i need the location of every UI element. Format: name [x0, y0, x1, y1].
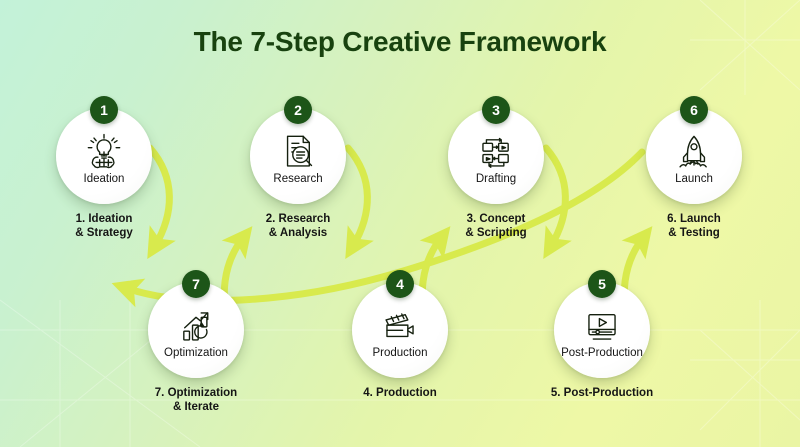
- step-badge-3: 3: [482, 96, 510, 124]
- step-caption-7-line2: & Iterate: [116, 400, 276, 414]
- step-badge-7: 7: [182, 270, 210, 298]
- rocket-icon: [673, 132, 715, 172]
- step-caption-1-line2: & Strategy: [24, 226, 184, 240]
- step-node-1[interactable]: 1 Ideation: [56, 108, 152, 204]
- step-caption-3: 3. Concept & Scripting: [416, 212, 576, 240]
- step-caption-2: 2. Research & Analysis: [218, 212, 378, 240]
- step-node-3[interactable]: 3 Drafting: [448, 108, 544, 204]
- growth-chart-icon: [175, 306, 217, 346]
- step-label-5: Post-Production: [561, 347, 643, 360]
- step-node-6[interactable]: 6 Launch: [646, 108, 742, 204]
- step-badge-4: 4: [386, 270, 414, 298]
- step-caption-3-line1: 3. Concept: [416, 212, 576, 226]
- step-caption-7-line1: 7. Optimization: [116, 386, 276, 400]
- step-caption-6-line1: 6. Launch: [614, 212, 774, 226]
- video-player-icon: [581, 306, 623, 346]
- step-badge-5: 5: [588, 270, 616, 298]
- step-caption-2-line2: & Analysis: [218, 226, 378, 240]
- step-caption-5-line1: 5. Post-Production: [522, 386, 682, 400]
- step-label-6: Launch: [675, 173, 713, 186]
- storyboard-flow-icon: [475, 132, 517, 172]
- step-node-2[interactable]: 2 Research: [250, 108, 346, 204]
- step-caption-5: 5. Post-Production: [522, 386, 682, 400]
- step-caption-4-line1: 4. Production: [320, 386, 480, 400]
- step-caption-3-line2: & Scripting: [416, 226, 576, 240]
- clapperboard-camera-icon: [379, 306, 421, 346]
- step-node-4[interactable]: 4 Production: [352, 282, 448, 378]
- step-node-7[interactable]: 7 Optimization: [148, 282, 244, 378]
- step-caption-2-line1: 2. Research: [218, 212, 378, 226]
- step-label-2: Research: [273, 173, 322, 186]
- step-caption-1: 1. Ideation & Strategy: [24, 212, 184, 240]
- document-magnifier-icon: [277, 132, 319, 172]
- step-caption-7: 7. Optimization & Iterate: [116, 386, 276, 414]
- step-caption-6-line2: & Testing: [614, 226, 774, 240]
- step-badge-1: 1: [90, 96, 118, 124]
- step-caption-4: 4. Production: [320, 386, 480, 400]
- step-badge-6: 6: [680, 96, 708, 124]
- page-title: The 7-Step Creative Framework: [0, 26, 800, 58]
- step-label-4: Production: [373, 347, 428, 360]
- step-caption-6: 6. Launch & Testing: [614, 212, 774, 240]
- step-caption-1-line1: 1. Ideation: [24, 212, 184, 226]
- step-label-3: Drafting: [476, 173, 516, 186]
- step-label-7: Optimization: [164, 347, 228, 360]
- step-label-1: Ideation: [84, 173, 125, 186]
- lightbulb-brain-icon: [83, 132, 125, 172]
- step-badge-2: 2: [284, 96, 312, 124]
- step-node-5[interactable]: 5 Post-Production: [554, 282, 650, 378]
- infographic-canvas: The 7-Step Creative Framework 1: [0, 0, 800, 447]
